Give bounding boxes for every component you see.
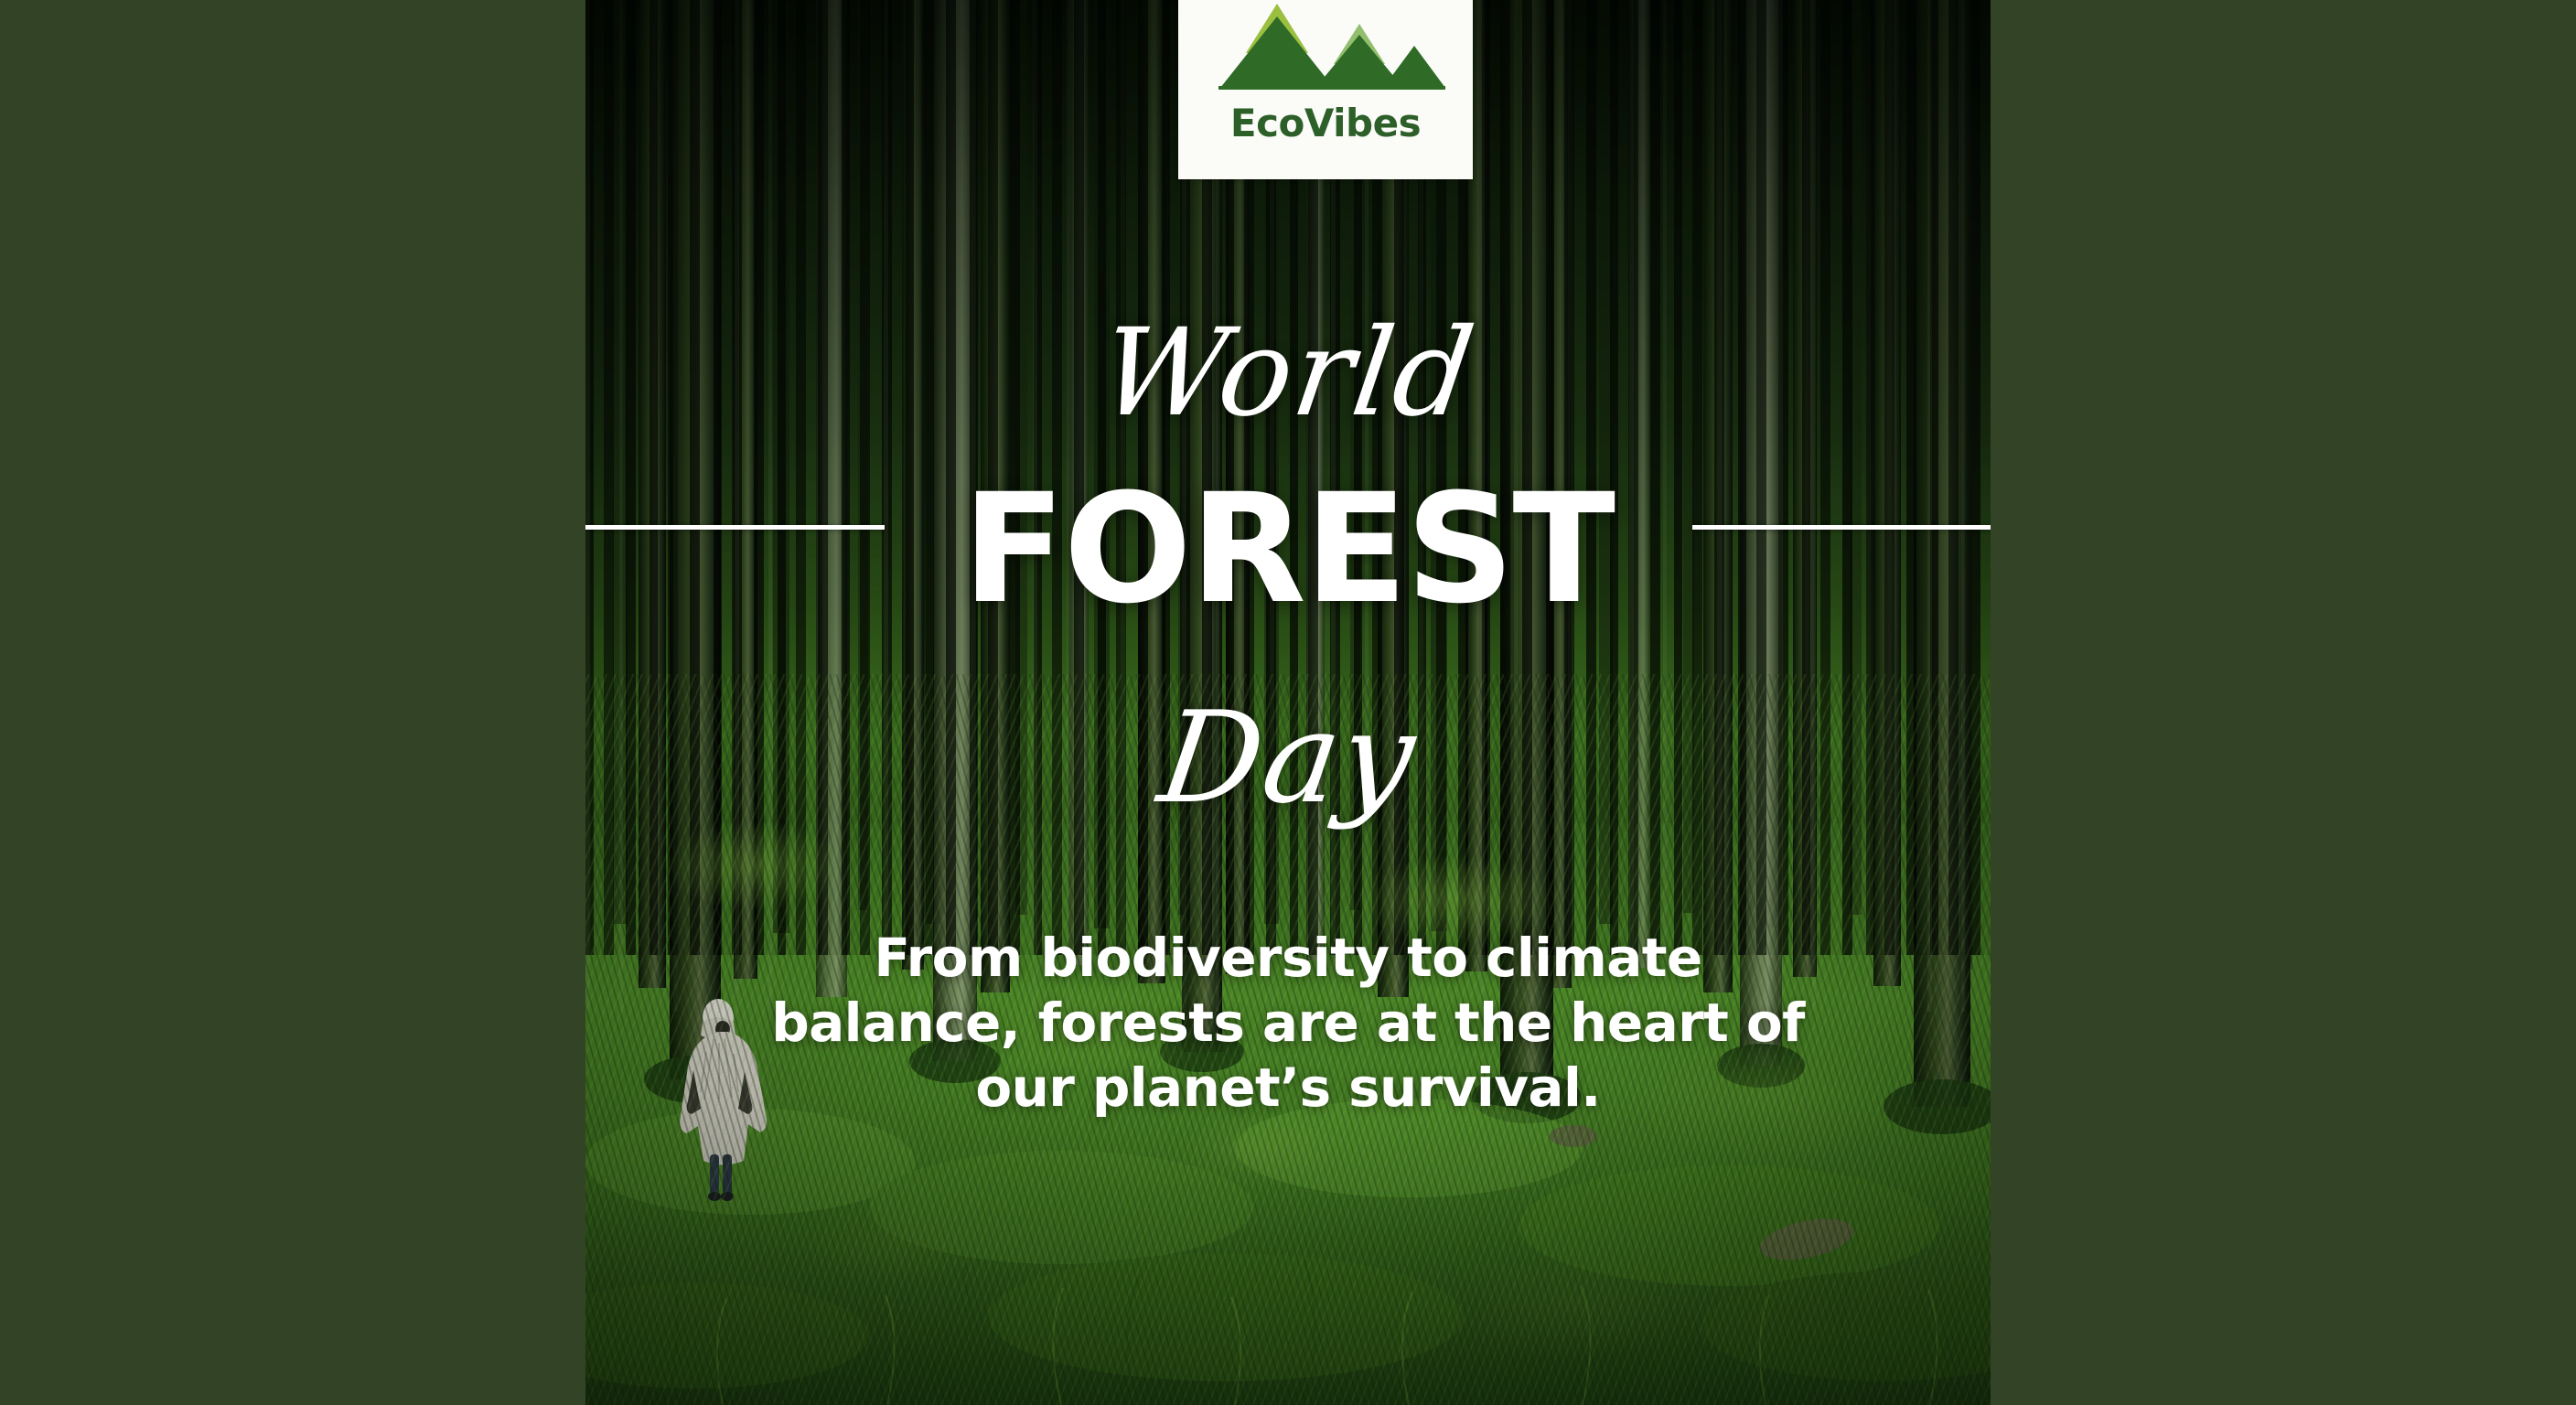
social-post-artboard: EcoVibes World FOREST Day From biodivers… [585,0,1991,1405]
tagline-block: From biodiversity to climate balance, fo… [739,926,1837,1120]
tagline-line-1: From biodiversity to climate [739,926,1837,991]
poster-canvas: EcoVibes World FOREST Day From biodivers… [0,0,2576,1405]
brand-wordmark: EcoVibes [1230,104,1421,143]
headline-script-bottom: Day [585,695,1991,821]
headline-script-top: World [585,313,1991,434]
tagline-line-3: our planet’s survival. [739,1056,1837,1121]
mountain-range-icon [1206,0,1445,99]
headline-display-word: FOREST [585,474,1991,625]
tagline-line-2: balance, forests are at the heart of [739,991,1837,1056]
brand-logo-plate: EcoVibes [1178,0,1473,179]
